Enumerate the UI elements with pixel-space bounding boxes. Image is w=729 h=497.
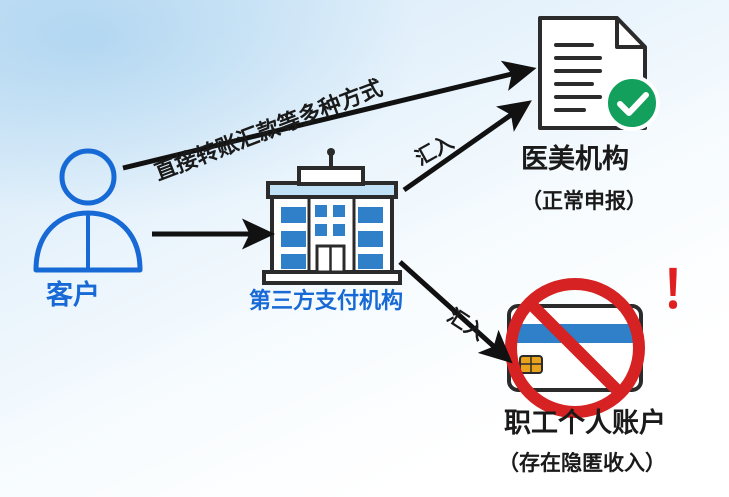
node-sublabel-employee: （存在隐匿收入）	[498, 452, 666, 476]
node-label-customer: 客户	[46, 280, 100, 311]
node-label-employee: 职工个人账户	[504, 408, 666, 439]
node-label-clinic: 医美机构	[521, 144, 629, 175]
exclamation-icon: ！	[660, 262, 712, 322]
diagram-canvas: 客户 第三方支付机构 直接转账汇款等多种方式 汇入 汇入 医美机构 （正常申报）…	[0, 0, 729, 497]
node-sublabel-clinic: （正常申报）	[521, 190, 647, 214]
bank-card-prohibited-icon	[509, 284, 641, 412]
building-icon	[264, 148, 400, 283]
node-label-third-party: 第三方支付机构	[249, 288, 403, 313]
arrow-third-party-to-employee	[400, 262, 500, 352]
document-check-icon	[540, 18, 658, 129]
